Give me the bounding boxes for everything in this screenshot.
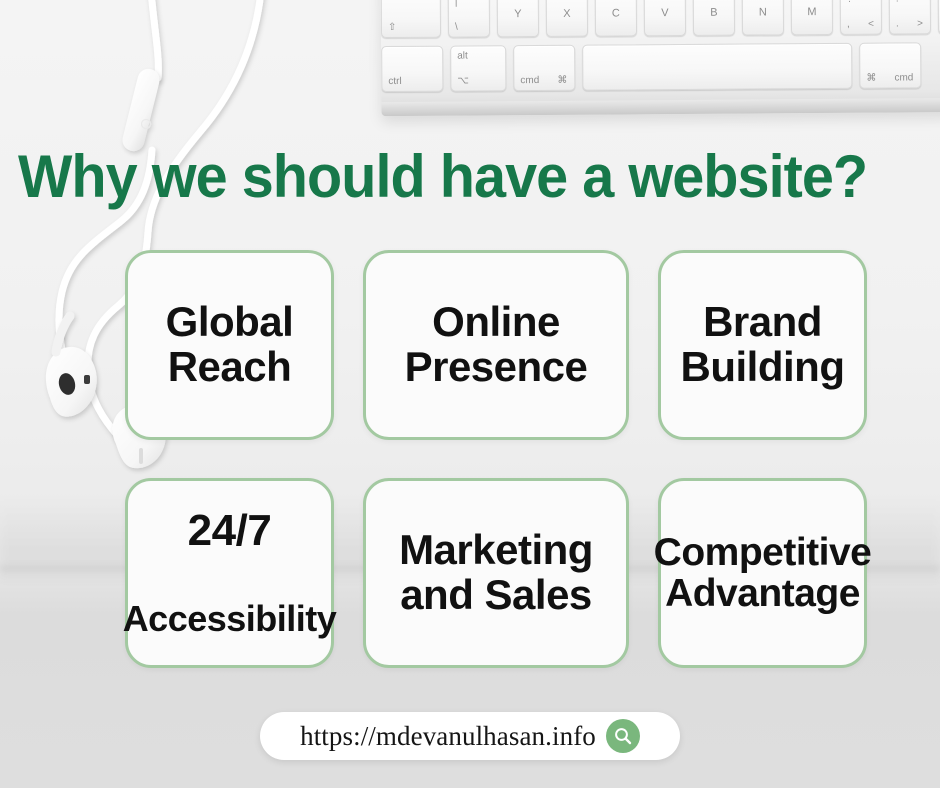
inline-remote <box>120 67 162 154</box>
card-label-247-line-2: Accessibility <box>123 600 337 638</box>
earbud-left <box>46 316 97 417</box>
keyboard-key: C <box>595 0 637 37</box>
keyboard-key: N <box>742 0 784 36</box>
keyboard-row-bottom: ctrlalt⌥cmd⌘⌘cmd <box>381 42 921 92</box>
card-label-competitive-advantage: Competitive Advantage <box>654 532 872 615</box>
key-label: , <box>847 19 850 30</box>
card-label-online-presence: Online Presence <box>405 300 588 389</box>
key-label: > <box>917 18 923 29</box>
keyboard-key: ?,< <box>840 0 882 35</box>
card-label-247-line-1: 24/7 <box>123 508 337 555</box>
key-label: \ <box>455 22 458 33</box>
keyboard-key: :.> <box>889 0 931 35</box>
keyboard-key: alt⌥ <box>450 45 506 91</box>
card-label-247-accessibility: 24/7 Accessibility <box>123 464 337 682</box>
key-label: ⌥ <box>457 75 469 86</box>
key-label: ⌘ <box>557 75 567 86</box>
keyboard-key: X <box>546 0 588 37</box>
keyboard-key: ⌘cmd <box>859 42 921 88</box>
key-label: ? <box>847 0 853 5</box>
key-label: . <box>896 18 899 29</box>
keyboard-key <box>582 43 852 91</box>
key-label: | <box>455 0 458 8</box>
keyboard-key: ⇧ <box>381 0 441 38</box>
card-brand-building[interactable]: Brand Building <box>658 250 867 440</box>
key-label: N <box>743 6 783 18</box>
card-label-marketing-and-sales: Marketing and Sales <box>366 528 626 617</box>
key-label: ⌘ <box>866 73 876 84</box>
card-online-presence[interactable]: Online Presence <box>363 250 629 440</box>
keyboard-key: B <box>693 0 735 36</box>
keyboard-key: V <box>644 0 686 36</box>
key-label: alt <box>457 50 468 61</box>
key-label: : <box>896 0 899 4</box>
search-icon-glyph <box>613 726 633 746</box>
card-label-global-reach: Global Reach <box>166 300 294 389</box>
key-label: B <box>694 7 734 19</box>
benefits-grid: Global Reach Online Presence Brand Build… <box>125 250 819 668</box>
key-label: M <box>792 6 832 18</box>
keyboard-key: |\ <box>448 0 490 38</box>
key-label: Y <box>498 8 538 20</box>
page-title: Why we should have a website? <box>18 142 894 211</box>
key-label: ctrl <box>388 76 401 87</box>
card-247-accessibility[interactable]: 24/7 Accessibility <box>125 478 334 668</box>
card-marketing-and-sales[interactable]: Marketing and Sales <box>363 478 629 668</box>
key-label: C <box>596 7 636 19</box>
keyboard-key: ctrl <box>381 46 443 92</box>
card-label-brand-building: Brand Building <box>681 300 845 389</box>
website-url-text: https://mdevanulhasan.info <box>300 721 596 752</box>
key-label: < <box>868 19 874 30</box>
keyboard-key: M <box>791 0 833 35</box>
key-label: ⇧ <box>388 22 396 33</box>
key-label: V <box>645 7 685 19</box>
keyboard-photo: ⇧|\YXCVBNM?,<:.>–_ ctrlalt⌥cmd⌘⌘cmd <box>380 0 940 116</box>
card-global-reach[interactable]: Global Reach <box>125 250 334 440</box>
card-competitive-advantage[interactable]: Competitive Advantage <box>658 478 867 668</box>
search-icon[interactable] <box>606 719 640 753</box>
key-label: cmd <box>520 75 539 86</box>
key-label: cmd <box>894 72 913 83</box>
keyboard-key: cmd⌘ <box>513 45 575 91</box>
key-label: X <box>547 8 587 20</box>
keyboard-key: Y <box>497 0 539 37</box>
keyboard-row-middle: ⇧|\YXCVBNM?,<:.>–_ <box>381 0 940 38</box>
website-url-pill[interactable]: https://mdevanulhasan.info <box>260 712 680 760</box>
